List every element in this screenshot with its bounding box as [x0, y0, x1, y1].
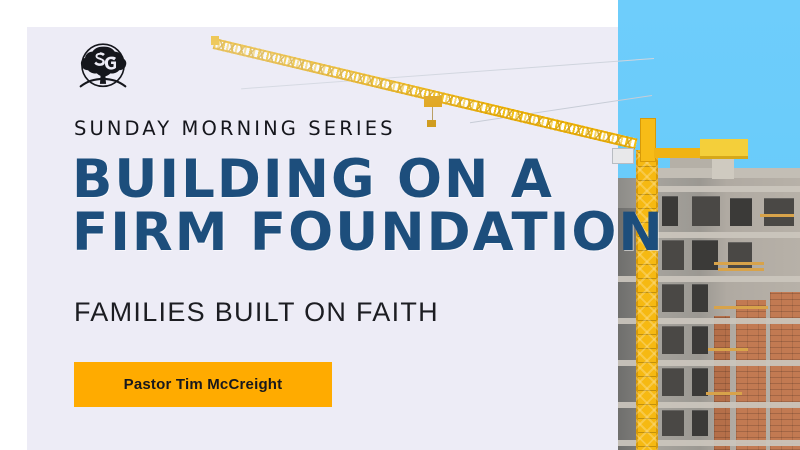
- slide-content: SUNDAY MORNING SERIES BUILDING ON A FIRM…: [72, 38, 592, 407]
- headline-line-1: BUILDING ON A: [72, 154, 592, 205]
- window-opening: [728, 242, 752, 270]
- church-tree-logo-icon: [72, 38, 134, 100]
- window-opening: [662, 326, 684, 354]
- scaffold-plank: [708, 348, 748, 351]
- subtitle: FAMILIES BUILT ON FAITH: [74, 297, 592, 328]
- brick-wall-section: [770, 292, 800, 450]
- window-opening: [692, 196, 720, 226]
- scaffold-plank: [714, 262, 764, 265]
- crane-lattice: [636, 150, 658, 450]
- slide-canvas: SUNDAY MORNING SERIES BUILDING ON A FIRM…: [0, 0, 800, 450]
- window-opening: [730, 198, 752, 226]
- crane-machinery-house: [700, 139, 748, 159]
- window-opening: [692, 326, 708, 354]
- speaker-button[interactable]: Pastor Tim McCreight: [74, 362, 332, 407]
- window-opening: [692, 240, 718, 270]
- window-opening: [764, 198, 794, 226]
- brick-wall-section: [714, 316, 730, 450]
- headline-line-2: FIRM FOUNDATION: [72, 207, 592, 258]
- page-title: BUILDING ON A FIRM FOUNDATION: [72, 154, 592, 259]
- window-opening: [662, 284, 684, 312]
- crane-operator-cab: [612, 148, 634, 164]
- window-opening: [662, 240, 684, 270]
- window-opening: [662, 368, 684, 396]
- series-kicker: SUNDAY MORNING SERIES: [74, 117, 592, 140]
- crane-counterweight: [712, 159, 734, 179]
- window-opening: [662, 410, 684, 436]
- scaffold-plank: [706, 392, 742, 395]
- scaffold-plank: [760, 214, 794, 217]
- window-opening: [692, 284, 708, 312]
- scaffold-plank: [714, 306, 768, 309]
- window-opening: [692, 410, 708, 436]
- crane-mast: [636, 150, 658, 450]
- scaffold-plank: [718, 268, 764, 271]
- floor-slab: [656, 186, 800, 192]
